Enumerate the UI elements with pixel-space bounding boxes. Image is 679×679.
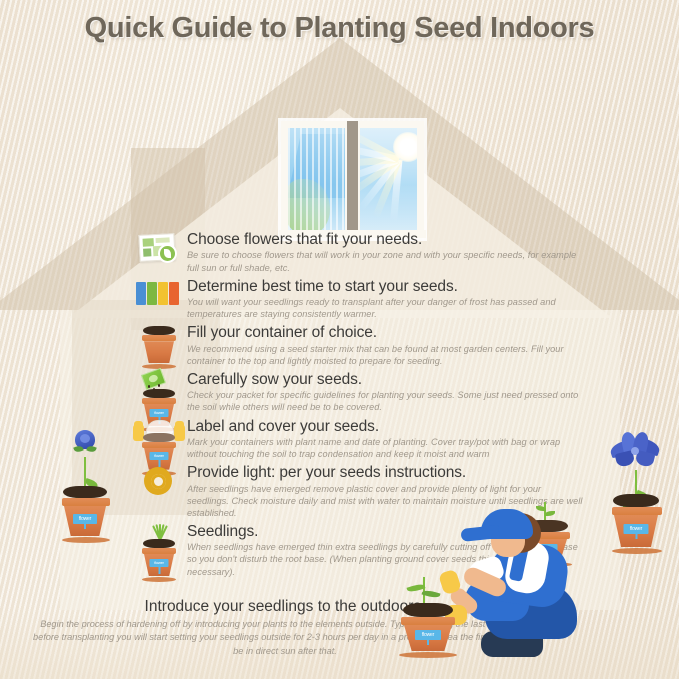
step-heading: Label and cover your seeds. <box>187 418 583 435</box>
step-heading: Provide light: per your seeds instructio… <box>187 464 583 481</box>
seed-catalog-icon <box>133 231 185 265</box>
step-body: You will want your seedlings ready to tr… <box>187 296 583 320</box>
step-item: flower Carefully sow your seeds. Check y… <box>133 371 583 417</box>
step-item: Choose flowers that fit your needs. Be s… <box>133 231 583 277</box>
step-heading: Choose flowers that fit your needs. <box>187 231 583 248</box>
leaf-badge-icon <box>160 246 175 261</box>
seedling-blades-icon <box>145 523 173 540</box>
window-blinds <box>288 128 345 231</box>
window-sheer <box>360 128 417 231</box>
step-item: flower Label and cover your seeds. Mark … <box>133 418 583 464</box>
infographic-poster: Quick Guide to Planting Seed Indoors Cho… <box>0 0 679 679</box>
gloves-covering-pot-icon: flower <box>133 418 185 462</box>
kneeling-gardener-illustration: flower <box>455 505 670 679</box>
window-icon <box>281 121 424 238</box>
step-item: Fill your container of choice. We recomm… <box>133 324 583 370</box>
seed-packets-icon <box>133 278 185 312</box>
pot-tag: flower <box>150 452 169 460</box>
seedlings-pot-icon: flower <box>133 523 185 569</box>
pot-tag: flower <box>415 630 441 640</box>
step-heading: Carefully sow your seeds. <box>187 371 583 388</box>
window-mullion <box>347 121 358 238</box>
potted-seedling-front: flower <box>399 603 457 658</box>
pot-tag: flower <box>150 409 169 417</box>
step-body: Check your packet for specific guideline… <box>187 389 583 413</box>
sun-light-icon <box>133 464 185 500</box>
step-heading: Fill your container of choice. <box>187 324 583 341</box>
step-body: We recommend using a seed starter mix th… <box>187 343 583 367</box>
pot-tag: flower <box>150 559 169 567</box>
step-body: Mark your containers with plant name and… <box>187 436 583 460</box>
blue-lily-bloom <box>608 432 664 476</box>
step-body: Be sure to choose flowers that will work… <box>187 249 583 273</box>
page-title: Quick Guide to Planting Seed Indoors <box>0 12 679 45</box>
seed-packet-pouring-icon: flower <box>133 371 185 413</box>
step-heading: Determine best time to start your seeds. <box>187 278 583 295</box>
step-item: Determine best time to start your seeds.… <box>133 278 583 324</box>
blue-rose-bloom <box>74 428 96 452</box>
filled-pot-icon <box>133 324 185 369</box>
pot-tag: flower <box>73 514 97 524</box>
potted-blue-rose: flower <box>52 418 118 543</box>
